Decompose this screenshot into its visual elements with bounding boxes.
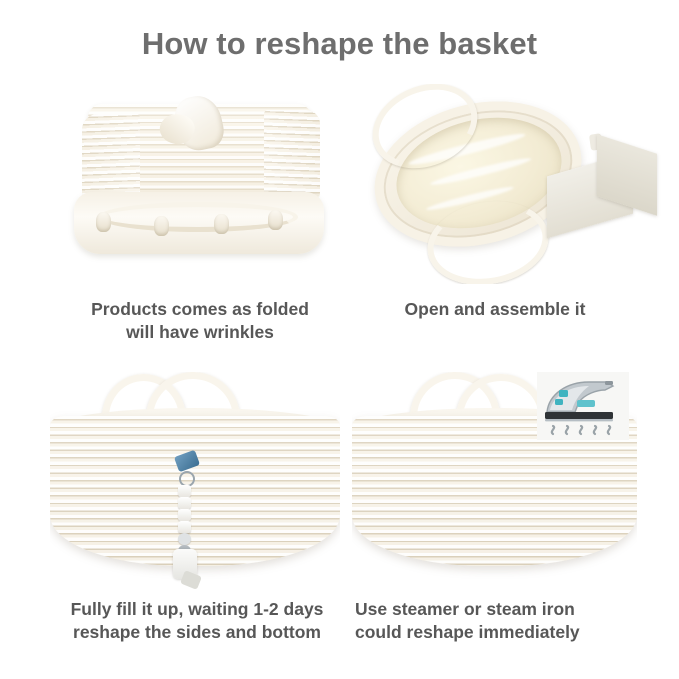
open-basket-photo <box>365 84 665 284</box>
spacer-bead <box>178 533 191 545</box>
page-title: How to reshape the basket <box>0 26 679 62</box>
caption-step-4: Use steamer or steam iron could reshape … <box>355 598 665 645</box>
pacifier-clip <box>176 465 194 575</box>
rope-knot-center-left <box>154 216 169 236</box>
caption-step-2: Open and assemble it <box>330 298 660 321</box>
letter-bead-4 <box>178 521 191 533</box>
folded-basket-photo <box>68 96 358 276</box>
letter-bead-2 <box>178 497 191 509</box>
letter-bead-1 <box>178 485 191 497</box>
letter-bead-3 <box>178 509 191 521</box>
caption-step-3: Fully fill it up, waiting 1-2 days resha… <box>22 598 372 645</box>
rope-knot-left <box>96 212 111 232</box>
rope-knot-center-right <box>214 214 229 234</box>
rope-knot-right <box>268 210 283 230</box>
steam-iron-icon <box>537 372 629 440</box>
instruction-infographic: How to reshape the basket <box>0 0 679 679</box>
filled-basket-body <box>50 416 340 566</box>
